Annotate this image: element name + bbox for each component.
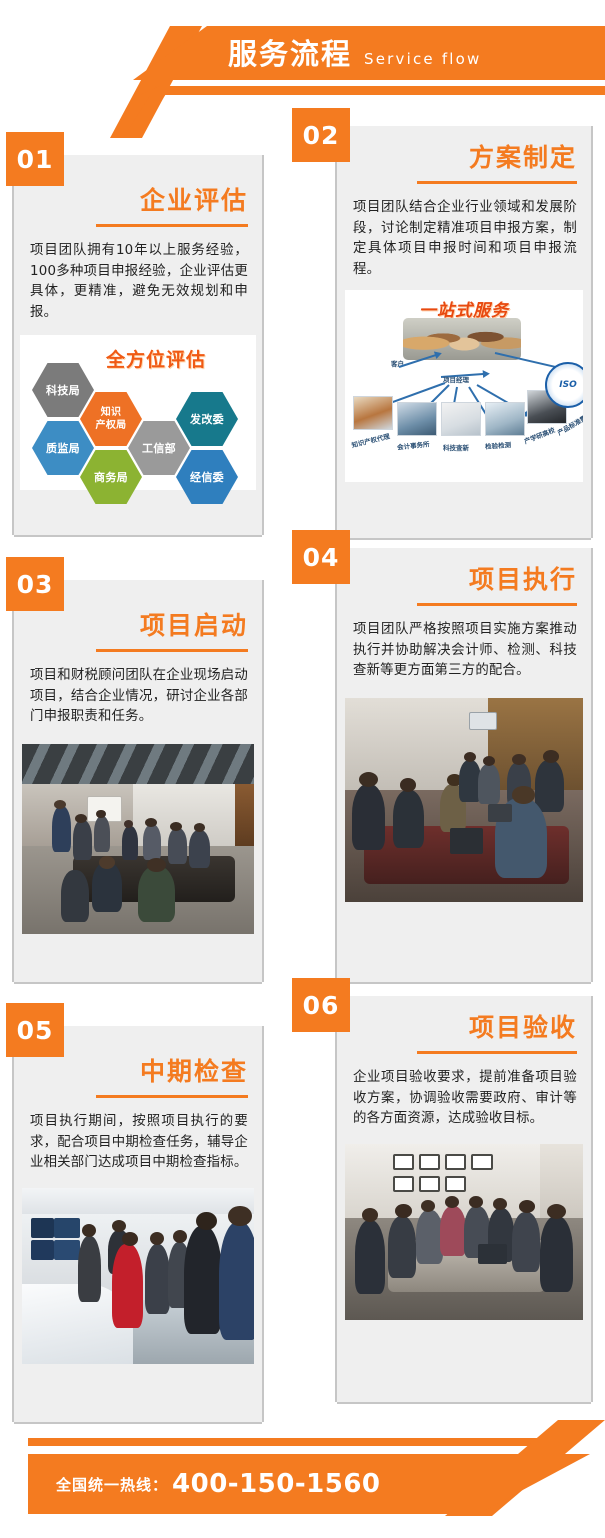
step-number-badge-05: 05 bbox=[6, 1003, 64, 1057]
step-number-badge-04: 04 bbox=[292, 530, 350, 584]
page-title: 服务流程 Service flow bbox=[228, 34, 482, 76]
hexagon-diagram-title: 全方位评估 bbox=[106, 345, 206, 372]
photo-project-kickoff bbox=[22, 744, 254, 934]
label-customer: 客户 bbox=[391, 358, 404, 368]
step-title-05: 中期检查 bbox=[14, 1056, 262, 1088]
node-ip-agency bbox=[353, 396, 393, 430]
infographic-page: 服务流程 Service flow 01 企业评估 项目团队拥有10年以上服务经… bbox=[0, 0, 605, 1538]
step-card-06[interactable]: 06 项目验收 企业项目验收要求，提前准备项目验收方案，协调验收需要政府、审计等… bbox=[337, 996, 591, 1402]
step-body-05: 项目执行期间，按照项目执行的要求，配合项目中期检查任务，辅导企业相关部门达成项目… bbox=[14, 1098, 262, 1184]
step-card-05[interactable]: 05 中期检查 项目执行期间，按照项目执行的要求，配合项目中期检查任务，辅导企业… bbox=[14, 1026, 262, 1422]
footer-hotline-banner: 全国统一热线： 400-150-1560 bbox=[0, 1420, 605, 1538]
label-project-manager: 项目经理 bbox=[443, 374, 469, 384]
footer-stripe-shape bbox=[28, 1438, 558, 1446]
node-inspection bbox=[485, 402, 525, 436]
step-card-01[interactable]: 01 企业评估 项目团队拥有10年以上服务经验，100多种项目申报经验，企业评估… bbox=[14, 155, 262, 535]
step-title-02: 方案制定 bbox=[337, 142, 591, 174]
step-number-badge-06: 06 bbox=[292, 978, 350, 1032]
node-accounting-firm bbox=[397, 402, 437, 436]
step-body-03: 项目和财税顾问团队在企业现场启动项目，结合企业情况，研讨企业各部门申报职责和任务… bbox=[14, 652, 262, 738]
footer-hotline-label: 全国统一热线： bbox=[56, 1474, 168, 1495]
step-body-06: 企业项目验收要求，提前准备项目验收方案，协调验收需要政府、审计等的各方面资源，达… bbox=[337, 1054, 591, 1140]
step-body-04: 项目团队严格按照项目实施方案推动执行并协助解决会计师、检测、科技查新等更方面第三… bbox=[337, 606, 591, 692]
footer-hotline-number[interactable]: 400-150-1560 bbox=[172, 1469, 381, 1499]
page-title-cn: 服务流程 bbox=[228, 34, 352, 74]
assessment-hexagon-diagram: 全方位评估 科技局 质监局 知识产权局 商务局 工信部 发改委 经信委 bbox=[20, 335, 256, 490]
iso-seal-icon: ISO bbox=[545, 362, 583, 408]
node-tech-search bbox=[441, 402, 481, 436]
step-body-01: 项目团队拥有10年以上服务经验，100多种项目申报经验，企业评估更具体，更精准，… bbox=[14, 227, 262, 333]
step-card-04[interactable]: 04 项目执行 项目团队严格按照项目实施方案推动执行并协助解决会计师、检测、科技… bbox=[337, 548, 591, 982]
step-body-02: 项目团队结合企业行业领域和发展阶段，讨论制定精准项目申报方案，制定具体项目申报时… bbox=[337, 184, 591, 290]
photo-project-acceptance bbox=[345, 1144, 583, 1320]
label-university: 产学研高校 bbox=[522, 424, 556, 445]
hexagon-fagai-wei: 发改委 bbox=[176, 392, 238, 446]
step-card-02[interactable]: 02 方案制定 项目团队结合企业行业领域和发展阶段，讨论制定精准项目申报方案，制… bbox=[337, 126, 591, 538]
footer-hotline: 全国统一热线： 400-150-1560 bbox=[56, 1454, 381, 1514]
label-inspection: 检验检测 bbox=[485, 439, 512, 451]
label-ip-agency: 知识产权代理 bbox=[350, 430, 390, 449]
step-title-01: 企业评估 bbox=[14, 185, 262, 217]
page-title-en: Service flow bbox=[364, 39, 482, 79]
photo-midterm-inspection bbox=[22, 1188, 254, 1364]
hexagon-shangwu-ju: 商务局 bbox=[80, 450, 142, 504]
hexagon-jingxin-wei: 经信委 bbox=[176, 450, 238, 504]
step-title-03: 项目启动 bbox=[14, 610, 262, 642]
header-banner: 服务流程 Service flow bbox=[0, 0, 605, 120]
hexagon-gongxin-bu: 工信部 bbox=[128, 421, 190, 475]
label-accounting-firm: 会计事务所 bbox=[397, 438, 430, 451]
step-number-badge-01: 01 bbox=[6, 132, 64, 186]
step-number-badge-02: 02 bbox=[292, 108, 350, 162]
hexagon-zhijian-ju: 质监局 bbox=[32, 421, 94, 475]
hexagon-keji-ju: 科技局 bbox=[32, 363, 94, 417]
step-title-04: 项目执行 bbox=[337, 564, 591, 596]
step-card-03[interactable]: 03 项目启动 项目和财税顾问团队在企业现场启动项目，结合企业情况，研讨企业各部… bbox=[14, 580, 262, 982]
label-tech-search: 科技查新 bbox=[443, 442, 469, 452]
header-underline-stripe bbox=[140, 86, 605, 95]
step-number-badge-03: 03 bbox=[6, 557, 64, 611]
one-stop-service-diagram: 一站式服务 客户 项目经理 ISO 知识产权代理 会计事务所 科技查新 检验检测… bbox=[345, 290, 583, 482]
step-title-06: 项目验收 bbox=[337, 1012, 591, 1044]
photo-project-execution bbox=[345, 698, 583, 902]
hexagon-zhishichanquan-ju: 知识产权局 bbox=[80, 392, 142, 446]
